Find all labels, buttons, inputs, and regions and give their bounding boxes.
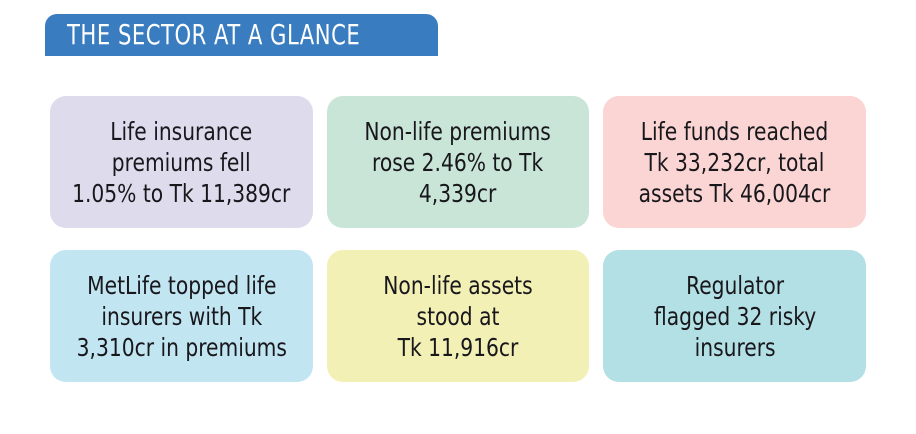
stat-card-life-funds-total-assets: Life funds reached Tk 33,232cr, total as… bbox=[603, 96, 866, 228]
stat-card-regulator-risky-insurers: Regulator flagged 32 risky insurers bbox=[603, 250, 866, 382]
stat-card-text: Non-life premiums rose 2.46% to Tk 4,339… bbox=[365, 116, 551, 209]
stat-card-non-life-premiums: Non-life premiums rose 2.46% to Tk 4,339… bbox=[327, 96, 590, 228]
page-title: THE SECTOR AT A GLANCE bbox=[67, 21, 360, 49]
stat-card-non-life-assets: Non-life assets stood at Tk 11,916cr bbox=[327, 250, 590, 382]
sector-at-a-glance-infographic: THE SECTOR AT A GLANCE Life insurance pr… bbox=[0, 0, 916, 434]
stat-card-life-insurance-premiums: Life insurance premiums fell 1.05% to Tk… bbox=[50, 96, 313, 228]
stat-card-text: Non-life assets stood at Tk 11,916cr bbox=[383, 270, 532, 363]
stat-card-metlife-top-life-insurer: MetLife topped life insurers with Tk 3,3… bbox=[50, 250, 313, 382]
stat-card-grid: Life insurance premiums fell 1.05% to Tk… bbox=[50, 96, 866, 382]
stat-card-text: Life funds reached Tk 33,232cr, total as… bbox=[639, 116, 831, 209]
stat-card-text: Regulator flagged 32 risky insurers bbox=[654, 270, 816, 363]
stat-card-text: MetLife topped life insurers with Tk 3,3… bbox=[76, 270, 286, 363]
stat-card-text: Life insurance premiums fell 1.05% to Tk… bbox=[72, 116, 290, 209]
header-banner: THE SECTOR AT A GLANCE bbox=[45, 14, 438, 56]
